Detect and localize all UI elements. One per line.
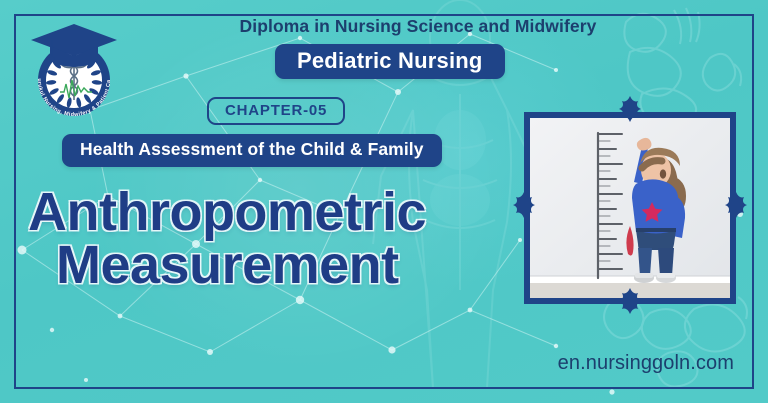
subject-badge: Pediatric Nursing: [275, 44, 505, 79]
hero-photo-container: [524, 112, 736, 304]
course-title-poster: Gurukul Nursing, Midwifery & Patient Car…: [0, 0, 768, 403]
four-point-star-ornament-bottom: [613, 287, 647, 321]
page-title-line1: Anthropometric: [28, 182, 426, 242]
child-height-measurement-photo: [530, 118, 730, 298]
photo-frame: [524, 112, 736, 304]
four-point-star-ornament-left: [507, 191, 541, 225]
chapter-badge: CHAPTER-05: [207, 97, 345, 125]
topic-bar: Health Assessment of the Child & Family: [62, 134, 442, 167]
site-url[interactable]: en.nursinggoln.com: [558, 352, 734, 375]
page-title: Anthropometric Measurement: [28, 186, 528, 293]
diploma-kicker-text: Diploma in Nursing Science and Midwifery: [208, 16, 628, 37]
page-title-line2: Measurement: [56, 239, 528, 292]
four-point-star-ornament-right: [719, 191, 753, 225]
gurukul-nursing-logo: Gurukul Nursing, Midwifery & Patient Car…: [24, 18, 124, 123]
four-point-star-ornament-top: [613, 95, 647, 129]
